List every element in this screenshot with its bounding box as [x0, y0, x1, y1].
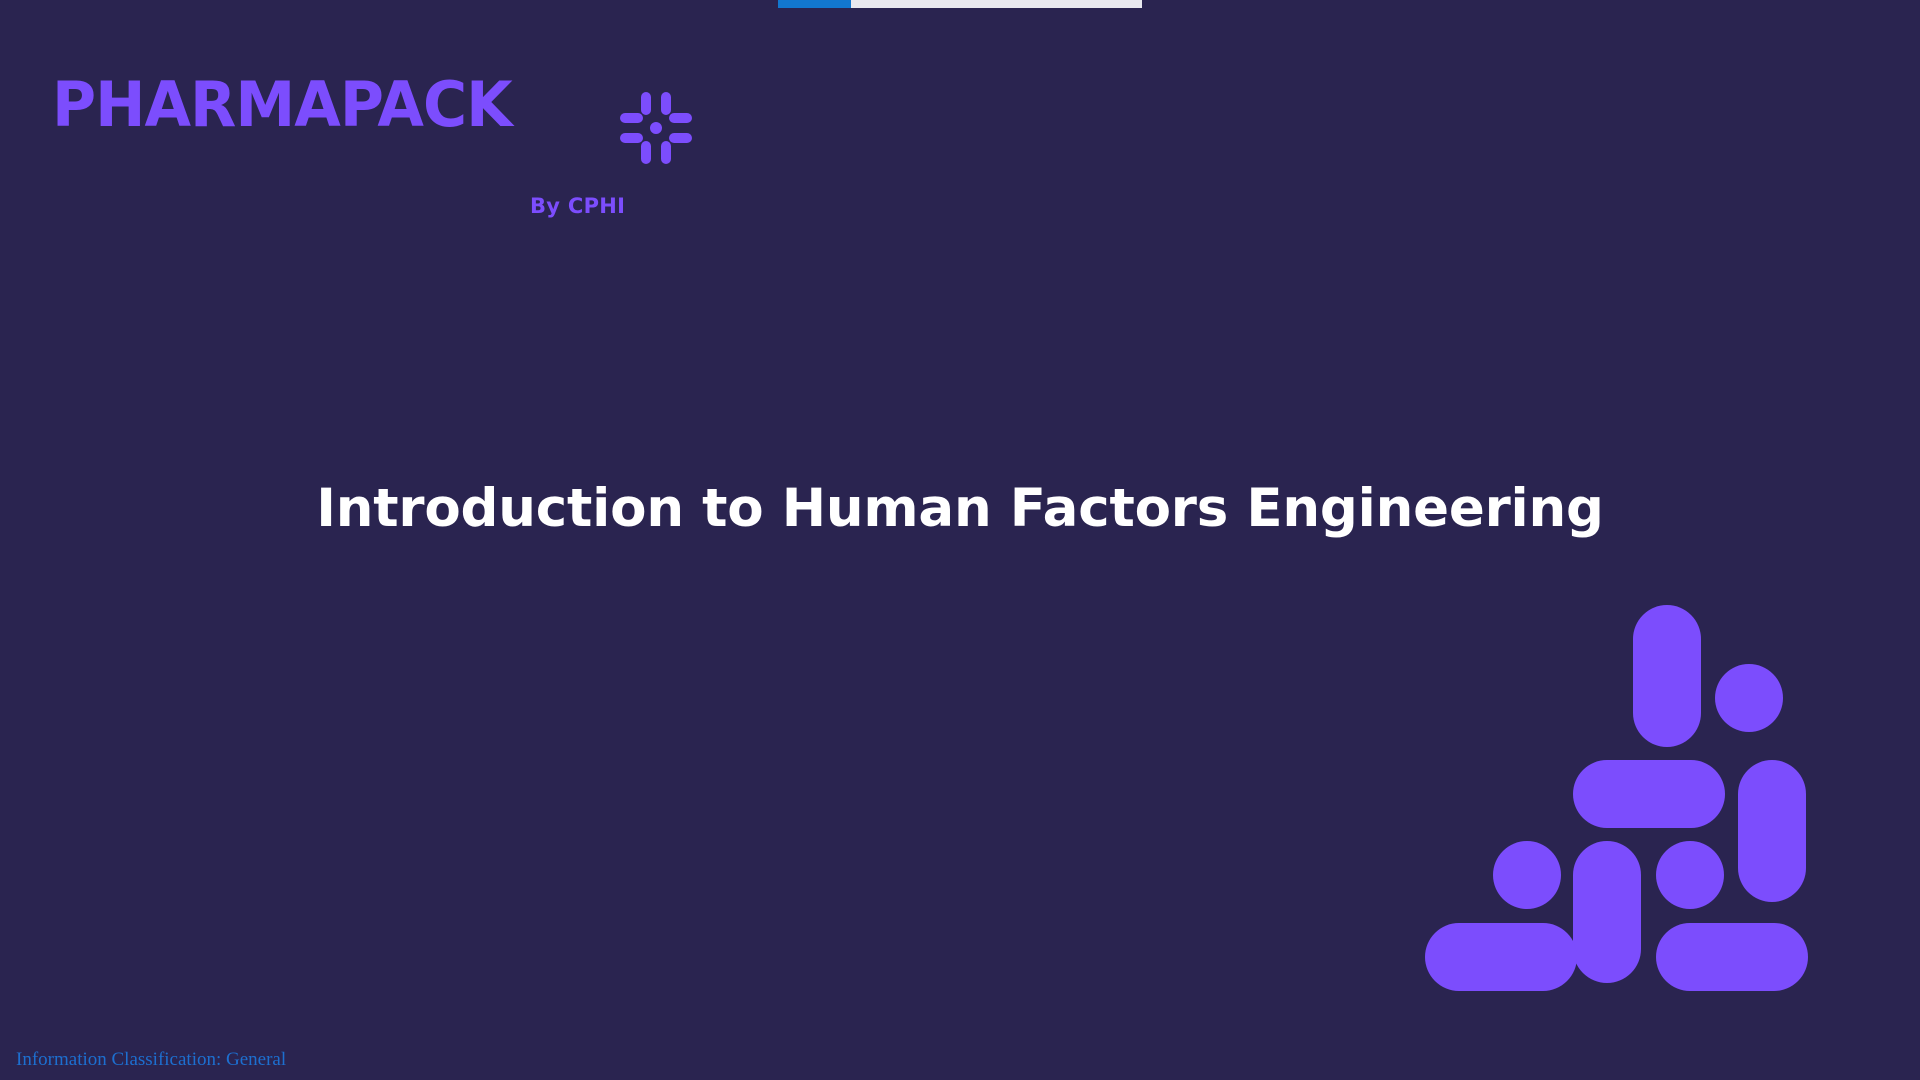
pill-mosaic-graphic [1425, 605, 1850, 1020]
deco-wide-pill-mid [1573, 760, 1725, 828]
deco-circle-top-right [1715, 664, 1783, 732]
starburst-bottom-pill-left [641, 141, 651, 164]
starburst-center-dot [650, 122, 662, 134]
starburst-top-pill-right [661, 92, 671, 115]
deco-wide-pill-bottom-right [1656, 923, 1808, 991]
deco-tall-pill-top [1633, 605, 1701, 747]
logo-byline: By CPHI [530, 196, 625, 217]
starburst-left-pill-lower [620, 133, 643, 143]
starburst-bottom-pill-right [661, 141, 671, 164]
page-title: Introduction to Human Factors Engineerin… [0, 479, 1920, 540]
deco-tall-pill-right [1738, 760, 1806, 902]
deco-wide-pill-bottom-left [1425, 923, 1577, 991]
starburst-right-pill-upper [669, 113, 692, 123]
top-progress-bar[interactable] [778, 0, 1142, 8]
starburst-top-pill-left [641, 92, 651, 115]
top-progress-bar-fill [778, 0, 851, 8]
deco-circle-left [1493, 841, 1561, 909]
starburst-left-pill-upper [620, 113, 643, 123]
pharmapack-logo: PHARMAPACK By CPHI [52, 48, 652, 178]
pharmapack-starburst-icon [620, 92, 692, 164]
logo-wordmark: PHARMAPACK [52, 74, 512, 136]
deco-tall-pill-center [1573, 841, 1641, 983]
information-classification-label: Information Classification: General [16, 1050, 286, 1069]
starburst-right-pill-lower [669, 133, 692, 143]
deco-circle-center-right [1656, 841, 1724, 909]
presentation-slide: PHARMAPACK By CPHI Introduction to Human… [0, 0, 1920, 1080]
